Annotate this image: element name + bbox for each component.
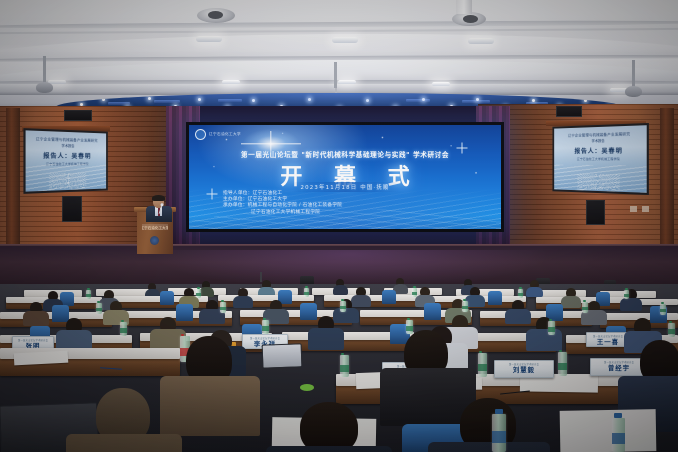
speaker-hair [152, 195, 165, 201]
side-right-graphic [577, 174, 619, 191]
screen-organizers: 指导人单位：辽宁石油化工 主办单位：辽宁石油化工大学 承办单位：机械工程与自动化… [223, 191, 473, 216]
wall-plate-1 [630, 206, 637, 212]
podium-emblem-icon [150, 236, 159, 245]
screen-university-logo: 辽宁石油化工大学 [195, 129, 241, 140]
wall-grille-right [586, 200, 605, 225]
university-seal-icon [195, 129, 206, 140]
mic-stand [260, 272, 262, 282]
stage-spotlight-center [334, 62, 337, 88]
recessed-light-3 [468, 38, 494, 44]
spotlight-head-icon [625, 86, 642, 97]
side-left-graphic [49, 173, 86, 190]
main-screen-surface: 辽宁石油化工大学 第一届光山论坛暨 "新时代机械科学基础理论与实践" 学术研讨会… [189, 125, 501, 229]
water-bottle-foreground-2 [612, 418, 625, 452]
ceiling-vent-right [452, 12, 486, 26]
placard-name: 曾经宇 [608, 364, 630, 372]
side-screen-left-surface: 辽宁企业管理与机械装备产业发展研究 学术报告 报告人：吴春明 辽宁石油化工大学机… [26, 130, 107, 191]
screen-banner-line: 第一届光山论坛暨 "新时代机械科学基础理论与实践" 学术研讨会 [189, 149, 501, 159]
side-screen-right: 辽宁企业管理与机械装备产业发展研究 学术报告 报告人：吴春明 辽宁石油化工大学机… [552, 123, 648, 195]
wall-speaker-left-top [64, 110, 92, 121]
wall-grille-left [62, 196, 82, 222]
side-right-line3: 报告人：吴春明 [554, 145, 647, 155]
side-screen-right-surface: 辽宁企业管理与机械装备产业发展研究 学术报告 报告人：吴春明 辽宁石油化工大学机… [554, 125, 647, 193]
organizer-line-3: 辽宁石油化工大学机械工程学院 [223, 210, 473, 216]
recessed-light-7 [432, 82, 450, 86]
stage-spotlight-right [632, 60, 635, 88]
ceiling-vent-left [197, 8, 235, 23]
ceiling-duct [456, 0, 472, 14]
placard-name: 刘慧毅 [513, 366, 535, 374]
stage-spotlight-left [43, 56, 46, 84]
main-projection-screen: 辽宁石油化工大学 第一届光山论坛暨 "新时代机械科学基础理论与实践" 学术研讨会… [186, 122, 504, 232]
spotlight-head-icon [36, 82, 53, 93]
recessed-light-1 [196, 36, 222, 42]
wall-plate-2 [642, 206, 649, 212]
side-right-line2: 学术报告 [554, 137, 647, 144]
paper-foreground-right [560, 409, 657, 452]
laptop [262, 343, 301, 366]
recessed-light-5 [222, 80, 240, 84]
placard-name: 王一喜 [597, 338, 619, 346]
water-bottle-foreground [492, 414, 506, 452]
name-placard-2: 第一届光山论坛学术研讨会 刘慧毅 [494, 360, 554, 378]
screen-logo-wordmark: 辽宁石油化工大学 [209, 132, 241, 137]
side-right-line4: 辽宁石油化工大学机械工程学院 [554, 157, 647, 161]
side-left-line4: 辽宁石油化工大学机械工程学院 [26, 162, 107, 166]
small-object [300, 384, 314, 391]
recessed-light-6 [338, 80, 356, 84]
side-left-line3: 报告人：吴春明 [26, 150, 107, 160]
side-screen-left: 辽宁企业管理与机械装备产业发展研究 学术报告 报告人：吴春明 辽宁石油化工大学机… [23, 128, 107, 194]
recessed-light-2 [332, 37, 358, 43]
podium-nameplate: 辽宁石油化工大学 [142, 224, 168, 230]
wall-speaker-right-top [556, 106, 582, 117]
side-left-line2: 学术报告 [26, 142, 107, 149]
auditorium-photo: 辽宁企业管理与机械装备产业发展研究 学术报告 报告人：吴春明 辽宁石油化工大学机… [0, 0, 678, 452]
